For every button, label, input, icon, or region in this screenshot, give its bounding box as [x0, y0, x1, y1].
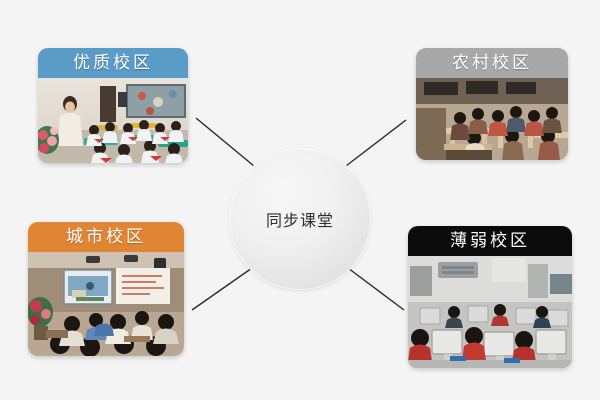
- card-photo-excellent-campus: [38, 78, 188, 163]
- sync-classroom-diagram: 同步课堂 优质校区: [0, 0, 600, 400]
- card-photo-rural-campus: [416, 78, 568, 160]
- card-photo-urban-campus: [28, 252, 184, 356]
- card-header-weak-campus: 薄弱校区: [408, 226, 572, 256]
- card-header-rural-campus: 农村校区: [416, 48, 568, 78]
- connector-hub-to-rural-campus: [346, 120, 406, 166]
- card-urban-campus[interactable]: 城市校区: [28, 222, 184, 356]
- connector-hub-to-urban-campus: [192, 268, 252, 310]
- center-hub-label: 同步课堂: [266, 207, 334, 231]
- card-header-urban-campus: 城市校区: [28, 222, 184, 252]
- card-weak-campus[interactable]: 薄弱校区: [408, 226, 572, 368]
- center-hub-circle: 同步课堂: [229, 148, 371, 290]
- card-rural-campus[interactable]: 农村校区: [416, 48, 568, 160]
- card-photo-weak-campus: [408, 256, 572, 368]
- connector-hub-to-excellent-campus: [196, 118, 254, 166]
- card-header-excellent-campus: 优质校区: [38, 48, 188, 78]
- card-excellent-campus[interactable]: 优质校区: [38, 48, 188, 163]
- connector-hub-to-weak-campus: [348, 268, 404, 310]
